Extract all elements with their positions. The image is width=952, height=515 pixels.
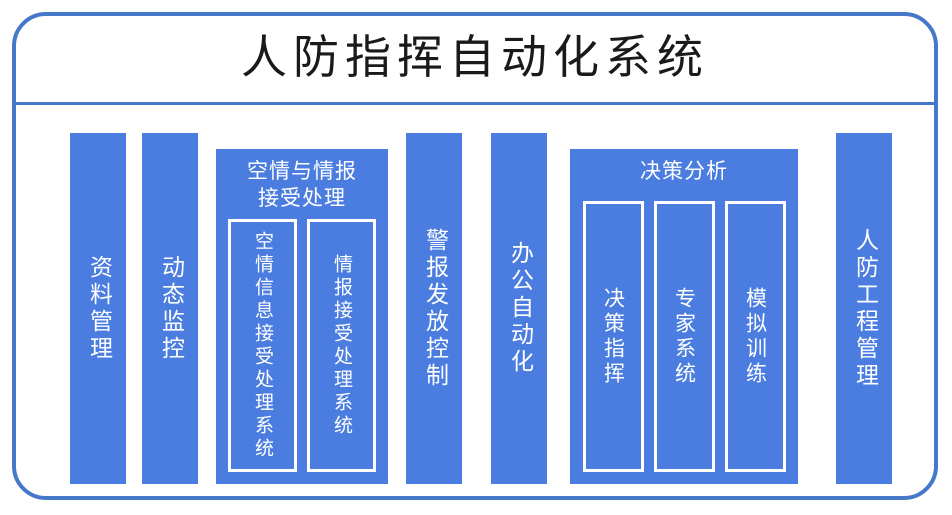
module-group-kongqing-qingbao-group[interactable]: 空情与情报 接受处理空情信息接受处理系统情报接受处理系统 (216, 149, 388, 484)
module-block-jingbao-fafang-kongzhi[interactable]: 警报发放控制 (406, 133, 462, 484)
system-outer-frame: 人防指挥自动化系统 资料管理动态监控空情与情报 接受处理空情信息接受处理系统情报… (12, 12, 938, 500)
module-block-label: 资料管理 (87, 255, 110, 363)
module-subblock-moni-xunlian[interactable]: 模拟训练 (725, 201, 786, 472)
module-group-title: 决策分析 (579, 158, 789, 185)
module-block-label: 动态监控 (159, 255, 182, 363)
module-group-children: 决策指挥专家系统模拟训练 (570, 201, 798, 472)
module-subblock-kongqing-xinxi-system[interactable]: 空情信息接受处理系统 (228, 219, 297, 472)
module-block-ziliao-guanli[interactable]: 资料管理 (70, 133, 126, 484)
module-subblock-qingbao-jieshou-system[interactable]: 情报接受处理系统 (307, 219, 376, 472)
module-subblock-label: 空情信息接受处理系统 (253, 231, 272, 461)
module-block-label: 警报发放控制 (423, 228, 446, 390)
module-block-dongtai-jiankong[interactable]: 动态监控 (142, 133, 198, 484)
module-group-children: 空情信息接受处理系统情报接受处理系统 (216, 219, 388, 472)
module-block-label: 人防工程管理 (853, 228, 876, 390)
module-subblock-label: 模拟训练 (745, 287, 766, 387)
module-block-bangong-zidonghua[interactable]: 办公自动化 (491, 133, 547, 484)
diagram-root: 人防指挥自动化系统 资料管理动态监控空情与情报 接受处理空情信息接受处理系统情报… (0, 0, 952, 515)
module-group-juece-fenxi-group[interactable]: 决策分析决策指挥专家系统模拟训练 (570, 149, 798, 484)
module-subblock-juece-zhihui[interactable]: 决策指挥 (583, 201, 644, 472)
module-block-label: 办公自动化 (508, 241, 531, 376)
module-subblock-zhuanjia-xitong[interactable]: 专家系统 (654, 201, 715, 472)
page-title: 人防指挥自动化系统 (241, 34, 709, 80)
module-subblock-label: 专家系统 (674, 287, 695, 387)
diagram-title-band: 人防指挥自动化系统 (16, 16, 934, 102)
module-block-renfang-gongcheng-guanli[interactable]: 人防工程管理 (836, 133, 892, 484)
module-subblock-label: 决策指挥 (603, 287, 624, 387)
module-blocks-row: 资料管理动态监控空情与情报 接受处理空情信息接受处理系统情报接受处理系统警报发放… (16, 105, 934, 500)
module-subblock-label: 情报接受处理系统 (332, 254, 351, 438)
module-group-title: 空情与情报 接受处理 (223, 158, 381, 212)
